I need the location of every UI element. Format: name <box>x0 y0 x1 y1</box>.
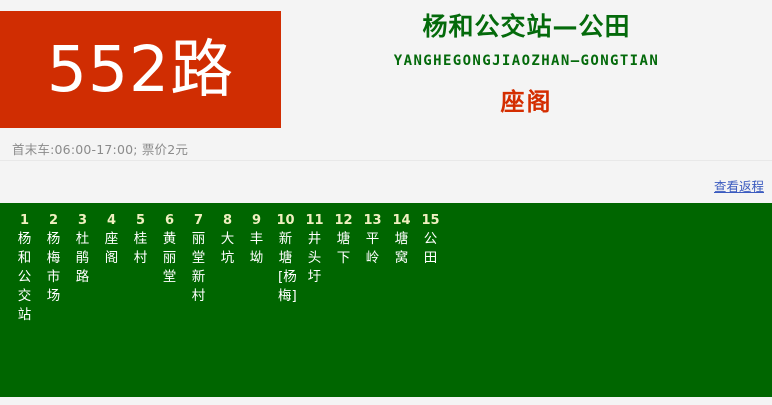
stop-item[interactable]: 13平岭 <box>358 212 387 268</box>
stop-name: 塘下 <box>336 230 351 268</box>
route-title: 杨和公交站—公田 <box>281 10 772 44</box>
route-title-pinyin: YANGHEGONGJIAOZHAN—GONGTIAN <box>281 53 772 69</box>
stop-name: 公田 <box>423 230 438 268</box>
stop-name: 丽堂新村 <box>191 230 206 306</box>
stop-number: 14 <box>392 212 410 229</box>
stop-item[interactable]: 2杨梅市场 <box>39 212 68 306</box>
view-return-trip-link[interactable]: 查看返程 <box>714 176 764 195</box>
stop-number: 5 <box>136 212 145 229</box>
stop-item[interactable]: 5桂村 <box>126 212 155 268</box>
route-title-block: 杨和公交站—公田 YANGHEGONGJIAOZHAN—GONGTIAN 座阁 <box>281 0 772 160</box>
service-info-text: 首末车:06:00-17:00; 票价2元 <box>12 139 188 158</box>
stop-name: 塘窝 <box>394 230 409 268</box>
stops-band: 1杨和公交站2杨梅市场3杜鹃路4座阁5桂村6黄丽堂7丽堂新村8大坑9丰坳10新塘… <box>0 203 772 397</box>
stop-number: 6 <box>165 212 174 229</box>
stop-number: 3 <box>78 212 87 229</box>
stop-number: 2 <box>49 212 58 229</box>
stop-number: 7 <box>194 212 203 229</box>
stop-number: 4 <box>107 212 116 229</box>
stop-item[interactable]: 15公田 <box>416 212 445 268</box>
stop-item[interactable]: 14塘窝 <box>387 212 416 268</box>
stop-number: 8 <box>223 212 232 229</box>
stop-name: 桂村 <box>133 230 148 268</box>
route-number-badge: 552路 <box>0 11 281 128</box>
stop-name: 平岭 <box>365 230 380 268</box>
route-subtitle: 座阁 <box>281 82 772 117</box>
stop-name: 座阁 <box>104 230 119 268</box>
stop-item[interactable]: 6黄丽堂 <box>155 212 184 287</box>
stop-number: 13 <box>363 212 381 229</box>
stop-item[interactable]: 10新塘[杨梅] <box>271 212 300 306</box>
stop-name: 黄丽堂 <box>162 230 177 287</box>
stop-name: 杜鹃路 <box>75 230 90 287</box>
return-link-row: 查看返程 <box>0 161 772 203</box>
stop-name: 新塘[杨梅] <box>278 230 293 306</box>
stop-number: 10 <box>276 212 294 229</box>
stop-item[interactable]: 1杨和公交站 <box>10 212 39 325</box>
stop-number: 12 <box>334 212 352 229</box>
stop-name: 大坑 <box>220 230 235 268</box>
stops-list: 1杨和公交站2杨梅市场3杜鹃路4座阁5桂村6黄丽堂7丽堂新村8大坑9丰坳10新塘… <box>10 212 445 325</box>
stop-item[interactable]: 3杜鹃路 <box>68 212 97 287</box>
stop-item[interactable]: 11井头圩 <box>300 212 329 287</box>
stop-item[interactable]: 12塘下 <box>329 212 358 268</box>
stop-item[interactable]: 8大坑 <box>213 212 242 268</box>
stop-number: 11 <box>305 212 323 229</box>
stop-item[interactable]: 4座阁 <box>97 212 126 268</box>
stop-item[interactable]: 9丰坳 <box>242 212 271 268</box>
stop-name: 井头圩 <box>307 230 322 287</box>
route-number-label: 552路 <box>47 38 234 101</box>
stop-number: 9 <box>252 212 261 229</box>
route-header-section: 552路 首末车:06:00-17:00; 票价2元 杨和公交站—公田 YANG… <box>0 0 772 160</box>
stop-item[interactable]: 7丽堂新村 <box>184 212 213 306</box>
stop-number: 1 <box>20 212 29 229</box>
stop-name: 杨梅市场 <box>46 230 61 306</box>
stop-name: 丰坳 <box>249 230 264 268</box>
bottom-strip <box>0 397 772 405</box>
stop-number: 15 <box>421 212 439 229</box>
stop-name: 杨和公交站 <box>17 230 32 325</box>
